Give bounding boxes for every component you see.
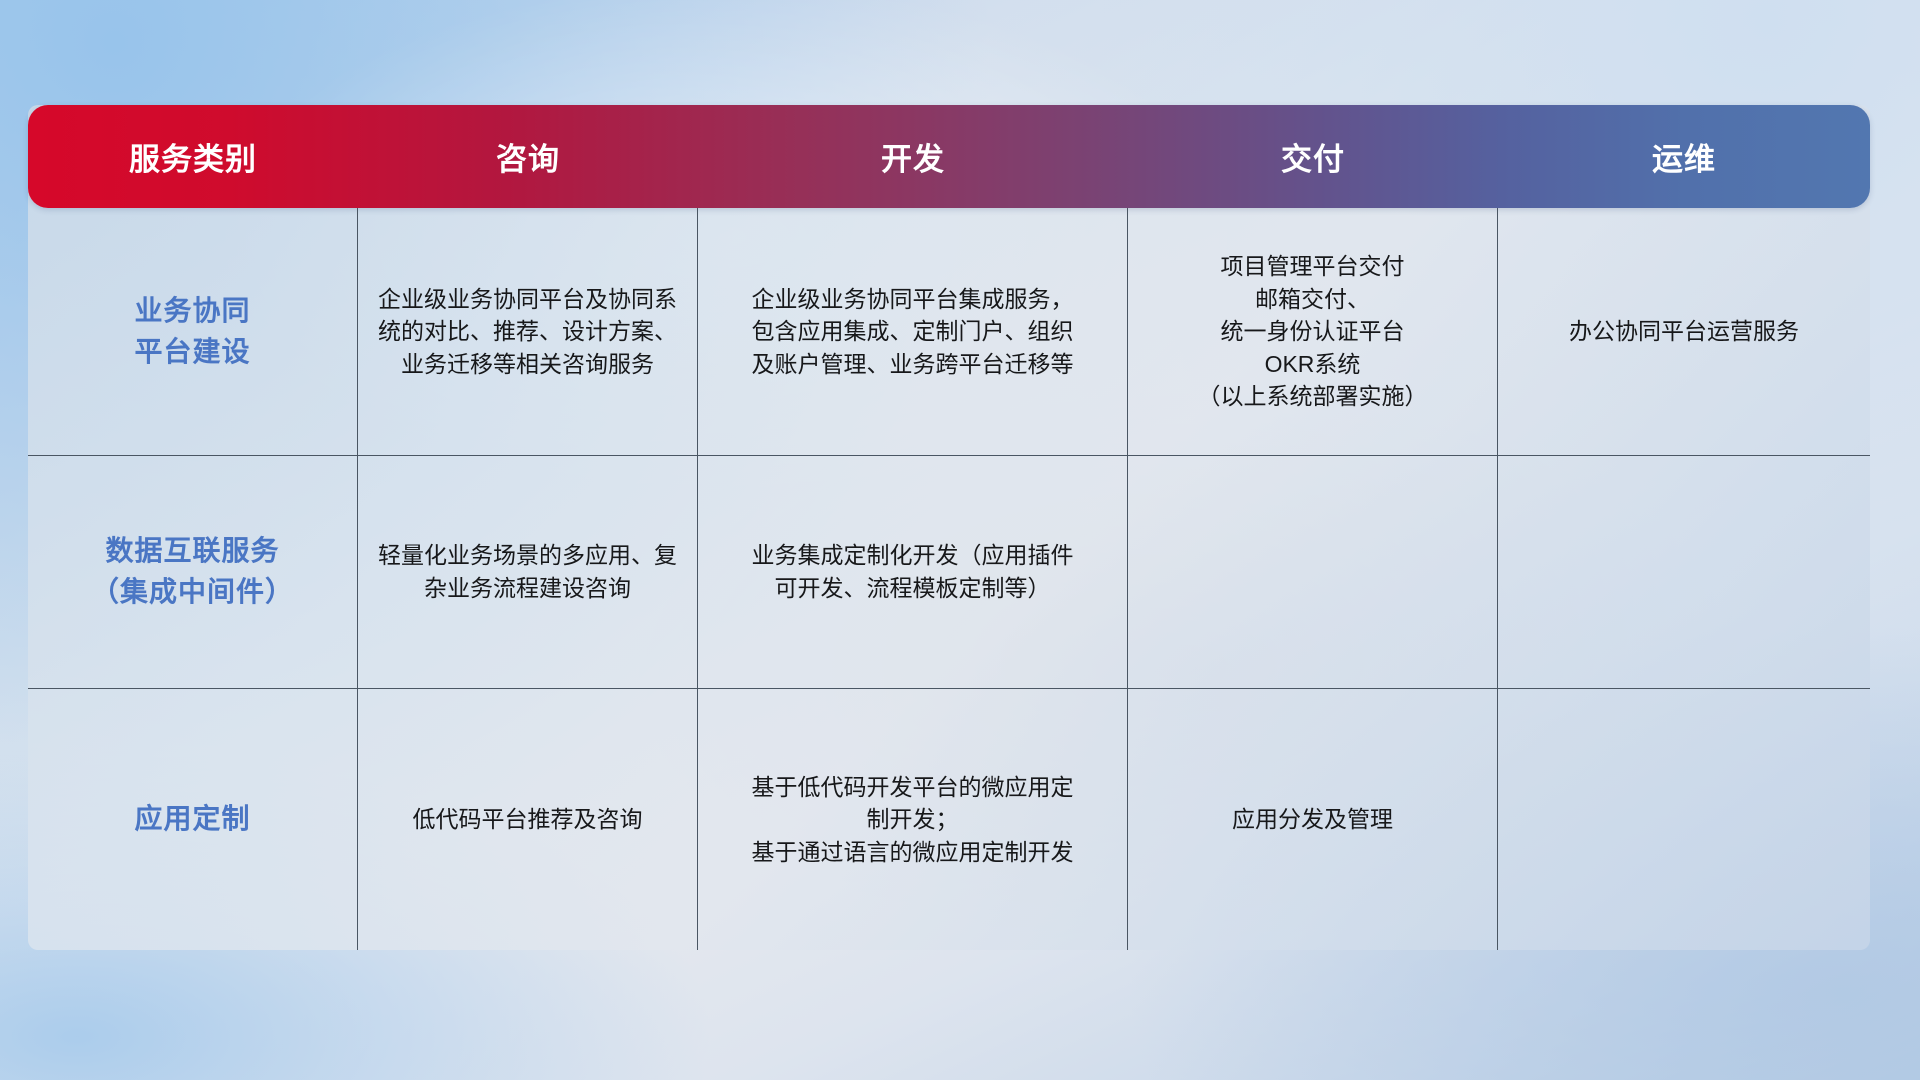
cell-development: 业务集成定制化开发（应用插件 可开发、流程模板定制等） xyxy=(698,456,1128,688)
row-category-label: 数据互联服务 （集成中间件） xyxy=(28,456,358,688)
row-category-label: 应用定制 xyxy=(28,689,358,950)
cell-development: 基于低代码开发平台的微应用定 制开发； 基于通过语言的微应用定制开发 xyxy=(698,689,1128,950)
table-row: 业务协同 平台建设 企业级业务协同平台及协同系 统的对比、推荐、设计方案、 业务… xyxy=(28,208,1870,455)
table-row: 应用定制 低代码平台推荐及咨询 基于低代码开发平台的微应用定 制开发； 基于通过… xyxy=(28,688,1870,950)
column-header-operations: 运维 xyxy=(1498,134,1870,179)
column-header-consulting: 咨询 xyxy=(358,134,698,179)
table-body: 业务协同 平台建设 企业级业务协同平台及协同系 统的对比、推荐、设计方案、 业务… xyxy=(28,208,1870,950)
column-header-development: 开发 xyxy=(698,134,1128,179)
cell-delivery xyxy=(1128,456,1498,688)
cell-operations xyxy=(1498,456,1870,688)
cell-delivery: 应用分发及管理 xyxy=(1128,689,1498,950)
column-header-category: 服务类别 xyxy=(28,134,358,179)
table-row: 数据互联服务 （集成中间件） 轻量化业务场景的多应用、复 杂业务流程建设咨询 业… xyxy=(28,455,1870,688)
table-header-row: 服务类别 咨询 开发 交付 运维 xyxy=(28,105,1870,208)
service-matrix-table: 服务类别 咨询 开发 交付 运维 业务协同 平台建设 企业级业务协同平台及协同系… xyxy=(28,105,1870,950)
cell-consulting: 企业级业务协同平台及协同系 统的对比、推荐、设计方案、 业务迁移等相关咨询服务 xyxy=(358,208,698,455)
cell-operations: 办公协同平台运营服务 xyxy=(1498,208,1870,455)
column-header-delivery: 交付 xyxy=(1128,134,1498,179)
cell-development: 企业级业务协同平台集成服务， 包含应用集成、定制门户、组织 及账户管理、业务跨平… xyxy=(698,208,1128,455)
cell-delivery: 项目管理平台交付 邮箱交付、 统一身份认证平台 OKR系统 （以上系统部署实施） xyxy=(1128,208,1498,455)
cell-operations xyxy=(1498,689,1870,950)
cell-consulting: 轻量化业务场景的多应用、复 杂业务流程建设咨询 xyxy=(358,456,698,688)
row-category-label: 业务协同 平台建设 xyxy=(28,208,358,455)
cell-consulting: 低代码平台推荐及咨询 xyxy=(358,689,698,950)
